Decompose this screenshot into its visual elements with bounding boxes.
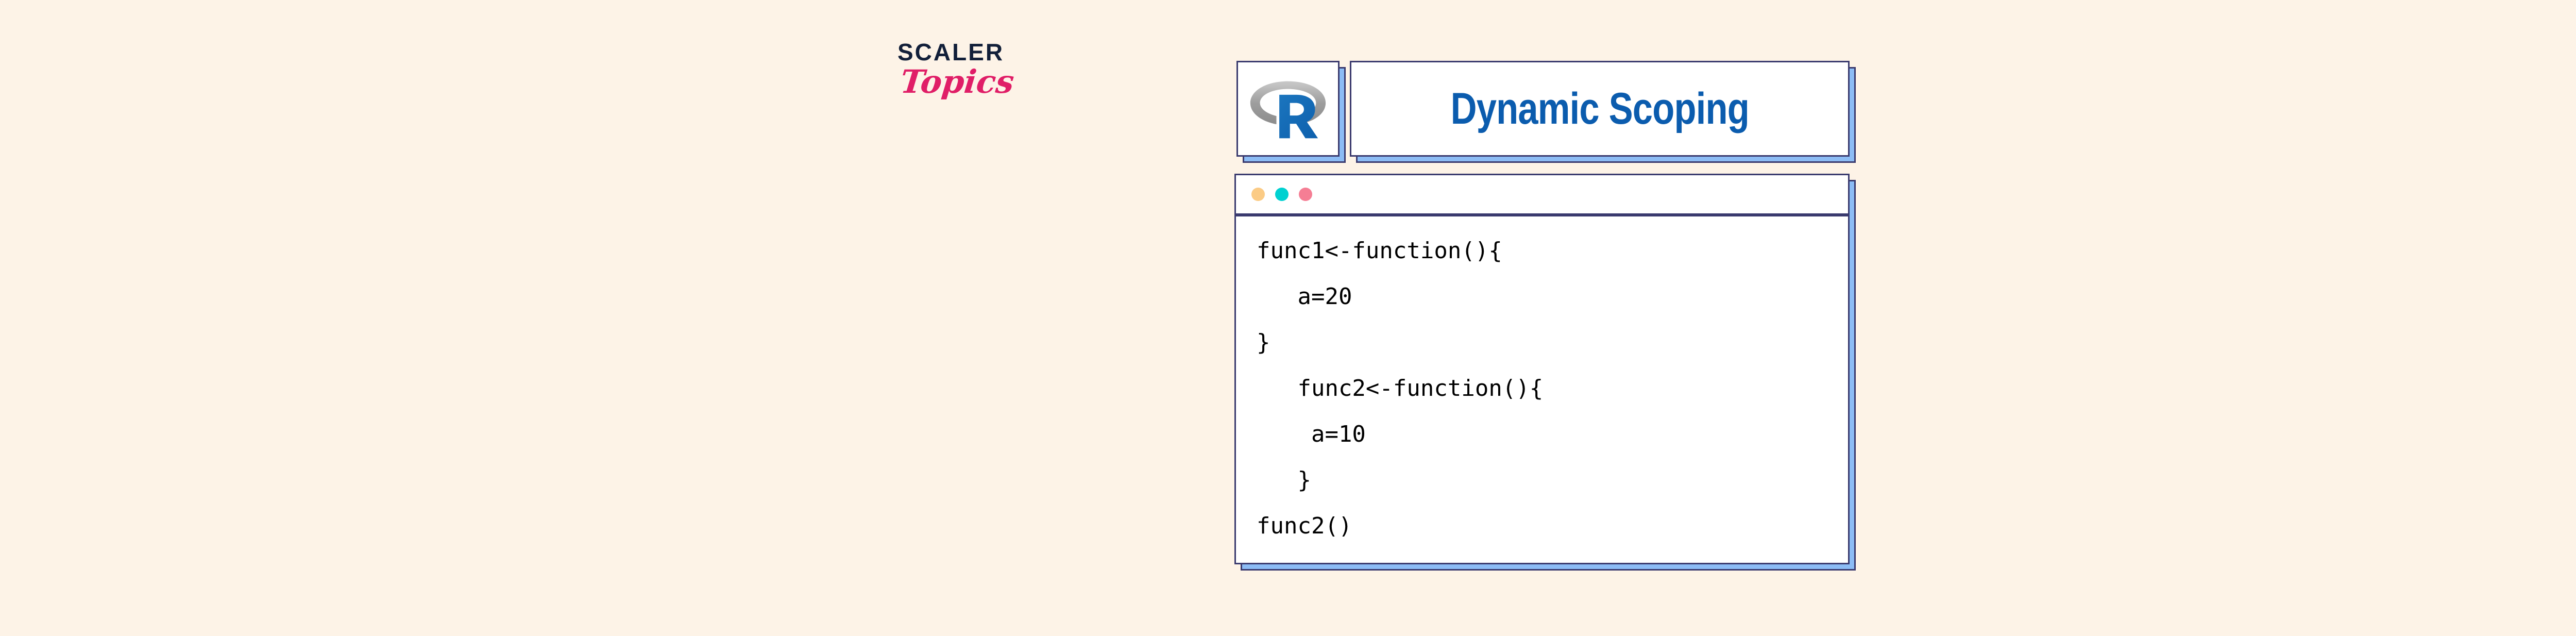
code-line: func1<-function(){ — [1257, 228, 1848, 274]
title-panel: Dynamic Scoping — [1350, 61, 1850, 157]
close-dot-icon[interactable] — [1299, 188, 1312, 201]
brand-logo: SCALER Topics — [897, 40, 1047, 133]
code-line: a=20 — [1257, 274, 1848, 320]
code-line: a=10 — [1257, 411, 1848, 457]
minimize-dot-icon[interactable] — [1251, 188, 1265, 201]
r-language-logo-icon — [1249, 77, 1327, 141]
code-line: func2() — [1257, 503, 1848, 549]
code-line: func2<-function(){ — [1257, 365, 1848, 411]
maximize-dot-icon[interactable] — [1275, 188, 1289, 201]
page-title: Dynamic Scoping — [1450, 83, 1749, 135]
brand-name-topics: Topics — [899, 66, 1049, 98]
brand-name-scaler: SCALER — [897, 40, 1047, 64]
code-line: } — [1257, 320, 1848, 365]
code-window-titlebar — [1234, 174, 1850, 215]
code-line: } — [1257, 457, 1848, 503]
r-logo-panel — [1236, 61, 1340, 157]
code-editor-area[interactable]: func1<-function(){ a=20 } func2<-functio… — [1234, 215, 1850, 564]
